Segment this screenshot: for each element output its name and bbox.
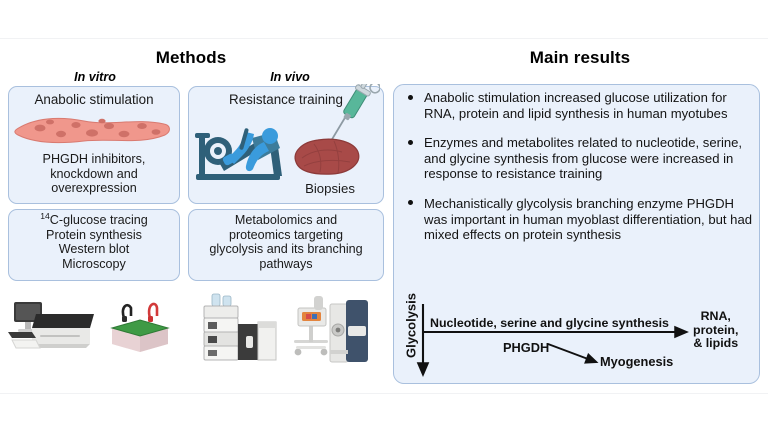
list-item: Enzymes and metabolites related to nucle… bbox=[405, 135, 757, 182]
in-vivo-label: In vivo bbox=[205, 70, 375, 84]
leg-press-illustration bbox=[190, 108, 294, 193]
mass-spectrometer-icon bbox=[290, 294, 374, 373]
phgdh-perturbation-text: PHGDH inhibitors, knockdown and overexpr… bbox=[10, 152, 178, 196]
hplc-icon bbox=[194, 292, 280, 373]
pathway-diagram: Glycolysis Nucleotide, serine and glycin… bbox=[393, 296, 760, 384]
canvas-bottom-rule bbox=[0, 393, 768, 394]
glucose-tracing-label: C-glucose tracing bbox=[50, 213, 148, 227]
list-item: Anabolic stimulation increased glucose u… bbox=[405, 90, 757, 121]
electrophoresis-box-icon bbox=[104, 298, 174, 363]
bullet-text: Mechanistically glycolysis branching enz… bbox=[424, 196, 752, 242]
bullet-dot-icon bbox=[408, 140, 413, 145]
bullet-text: Anabolic stimulation increased glucose u… bbox=[424, 90, 728, 121]
nucleotide-serine-glycine-label: Nucleotide, serine and glycine synthesis bbox=[430, 316, 669, 330]
in-vitro-label: In vitro bbox=[20, 70, 170, 84]
anabolic-stimulation-title: Anabolic stimulation bbox=[8, 92, 180, 107]
gel-imager-icon bbox=[6, 296, 98, 363]
results-bullet-list: Anabolic stimulation increased glucose u… bbox=[405, 90, 757, 257]
methods-heading: Methods bbox=[76, 48, 306, 68]
glycolysis-axis-label: Glycolysis bbox=[404, 286, 419, 366]
bullet-dot-icon bbox=[408, 95, 413, 100]
main-results-heading: Main results bbox=[400, 48, 760, 68]
myogenesis-label: Myogenesis bbox=[600, 354, 673, 369]
rna-protein-lipids-label: RNA, protein, & lipids bbox=[693, 310, 738, 351]
in-vitro-assays-text: 14C-glucose tracingProtein synthesis Wes… bbox=[8, 213, 180, 271]
isotope-superscript: 14 bbox=[40, 211, 50, 221]
bullet-dot-icon bbox=[408, 200, 413, 205]
assay-list: Protein synthesis Western blot Microscop… bbox=[46, 228, 142, 271]
canvas-top-rule bbox=[0, 38, 768, 39]
figure-canvas: Methods Main results In vitro In vivo An… bbox=[0, 0, 768, 432]
biopsy-illustration bbox=[288, 84, 380, 187]
phgdh-enzyme-label: PHGDH bbox=[503, 340, 549, 355]
omics-text: Metabolomics and proteomics targeting gl… bbox=[188, 213, 384, 271]
carbon14-line: 14C-glucose tracing bbox=[40, 213, 148, 227]
bullet-text: Enzymes and metabolites related to nucle… bbox=[424, 135, 742, 181]
list-item: Mechanistically glycolysis branching enz… bbox=[405, 196, 757, 243]
myotube-illustration bbox=[14, 112, 174, 153]
